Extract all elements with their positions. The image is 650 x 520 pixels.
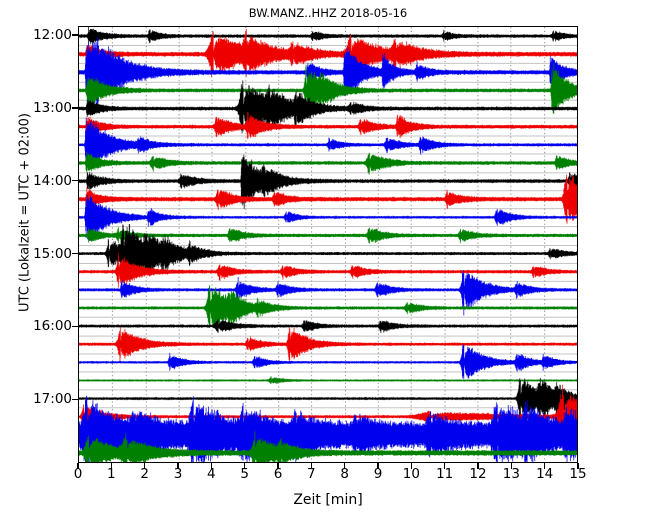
y-tick-label: 14:00 [2,173,72,189]
x-tick-mark [344,463,345,469]
x-tick-mark [411,463,412,469]
y-axis-ticks: 12:0013:0014:0015:0016:0017:00 [0,26,72,463]
x-tick-mark [544,463,545,469]
x-tick-mark [311,463,312,469]
x-tick-mark [444,463,445,469]
x-tick-mark [511,463,512,469]
x-tick-mark [211,463,212,469]
x-tick-mark [477,463,478,469]
seismic-traces [79,27,577,462]
y-tick-label: 15:00 [2,246,72,262]
x-tick-mark [277,463,278,469]
y-tick-label: 13:00 [2,100,72,116]
y-tick-label: 12:00 [2,27,72,43]
x-tick-mark [77,463,78,469]
x-axis-ticks: 0123456789101112131415 [78,466,578,488]
x-tick-mark [144,463,145,469]
plot-area [78,26,578,463]
x-tick-mark [244,463,245,469]
x-tick-mark [377,463,378,469]
x-axis-label: Zeit [min] [78,492,578,508]
y-tick-label: 17:00 [2,391,72,407]
x-tick-mark [177,463,178,469]
page-title: BW.MANZ..HHZ 2018-05-16 [78,6,578,20]
seismogram-figure: BW.MANZ..HHZ 2018-05-16 UTC (Lokalzeit =… [0,0,650,520]
x-tick-mark [577,463,578,469]
y-tick-label: 16:00 [2,318,72,334]
x-tick-mark [111,463,112,469]
